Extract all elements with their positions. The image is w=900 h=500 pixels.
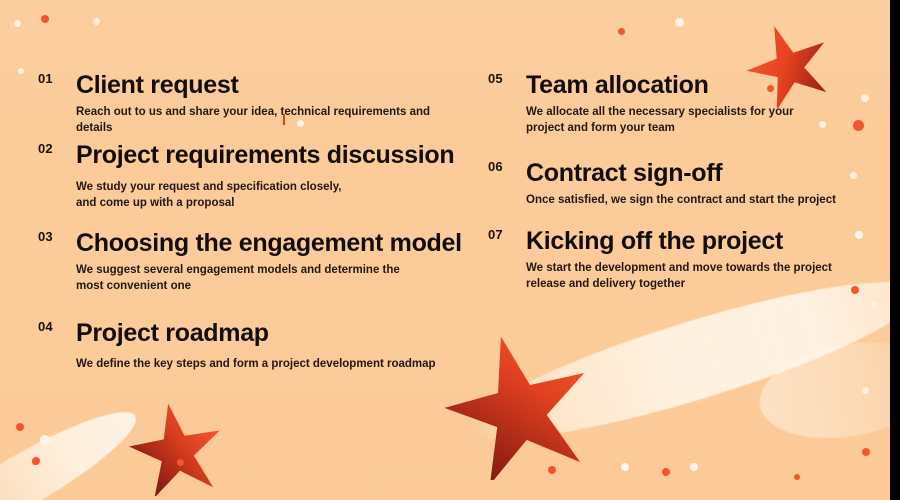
slide-root: 01 Client request Reach out to us and sh… [0,0,900,500]
step-body: Team allocation We allocate all the nece… [526,72,888,137]
step-title: Kicking off the project [526,228,888,254]
step-title: Client request [76,72,458,98]
step-body: Kicking off the project We start the dev… [526,228,888,293]
step-title: Team allocation [526,72,888,98]
text-cursor-caret [283,114,285,125]
step-description: We suggest several engagement models and… [76,263,458,295]
step-body: Project requirements discussion We study… [76,142,458,212]
step-item-04: 04 Project roadmap We define the key ste… [38,320,458,373]
step-description: Once satisfied, we sign the contract and… [526,193,888,209]
step-item-06: 06 Contract sign-off Once satisfied, we … [488,160,888,209]
steps-content: 01 Client request Reach out to us and sh… [0,0,890,500]
step-body: Choosing the engagement model We suggest… [76,230,458,295]
step-number: 06 [488,160,503,173]
right-black-gutter [890,0,900,500]
step-description: We start the development and move toward… [526,261,888,293]
step-title: Choosing the engagement model [76,230,458,256]
step-item-05: 05 Team allocation We allocate all the n… [488,72,888,137]
step-number: 04 [38,320,53,333]
step-title: Project requirements discussion [76,142,458,168]
step-description: We define the key steps and form a proje… [76,357,458,373]
step-description: We allocate all the necessary specialist… [526,105,888,137]
step-title: Contract sign-off [526,160,888,186]
slide-canvas: 01 Client request Reach out to us and sh… [0,0,890,500]
step-number: 01 [38,72,53,85]
step-item-01: 01 Client request Reach out to us and sh… [38,72,458,137]
step-item-02: 02 Project requirements discussion We st… [38,142,458,212]
step-number: 02 [38,142,53,155]
step-number: 07 [488,228,503,241]
step-body: Project roadmap We define the key steps … [76,320,458,373]
step-description: Reach out to us and share your idea, tec… [76,105,458,137]
step-description: We study your request and specification … [76,180,458,212]
step-body: Contract sign-off Once satisfied, we sig… [526,160,888,209]
step-item-07: 07 Kicking off the project We start the … [488,228,888,293]
step-item-03: 03 Choosing the engagement model We sugg… [38,230,458,295]
step-number: 05 [488,72,503,85]
step-title: Project roadmap [76,320,458,346]
step-body: Client request Reach out to us and share… [76,72,458,137]
step-number: 03 [38,230,53,243]
